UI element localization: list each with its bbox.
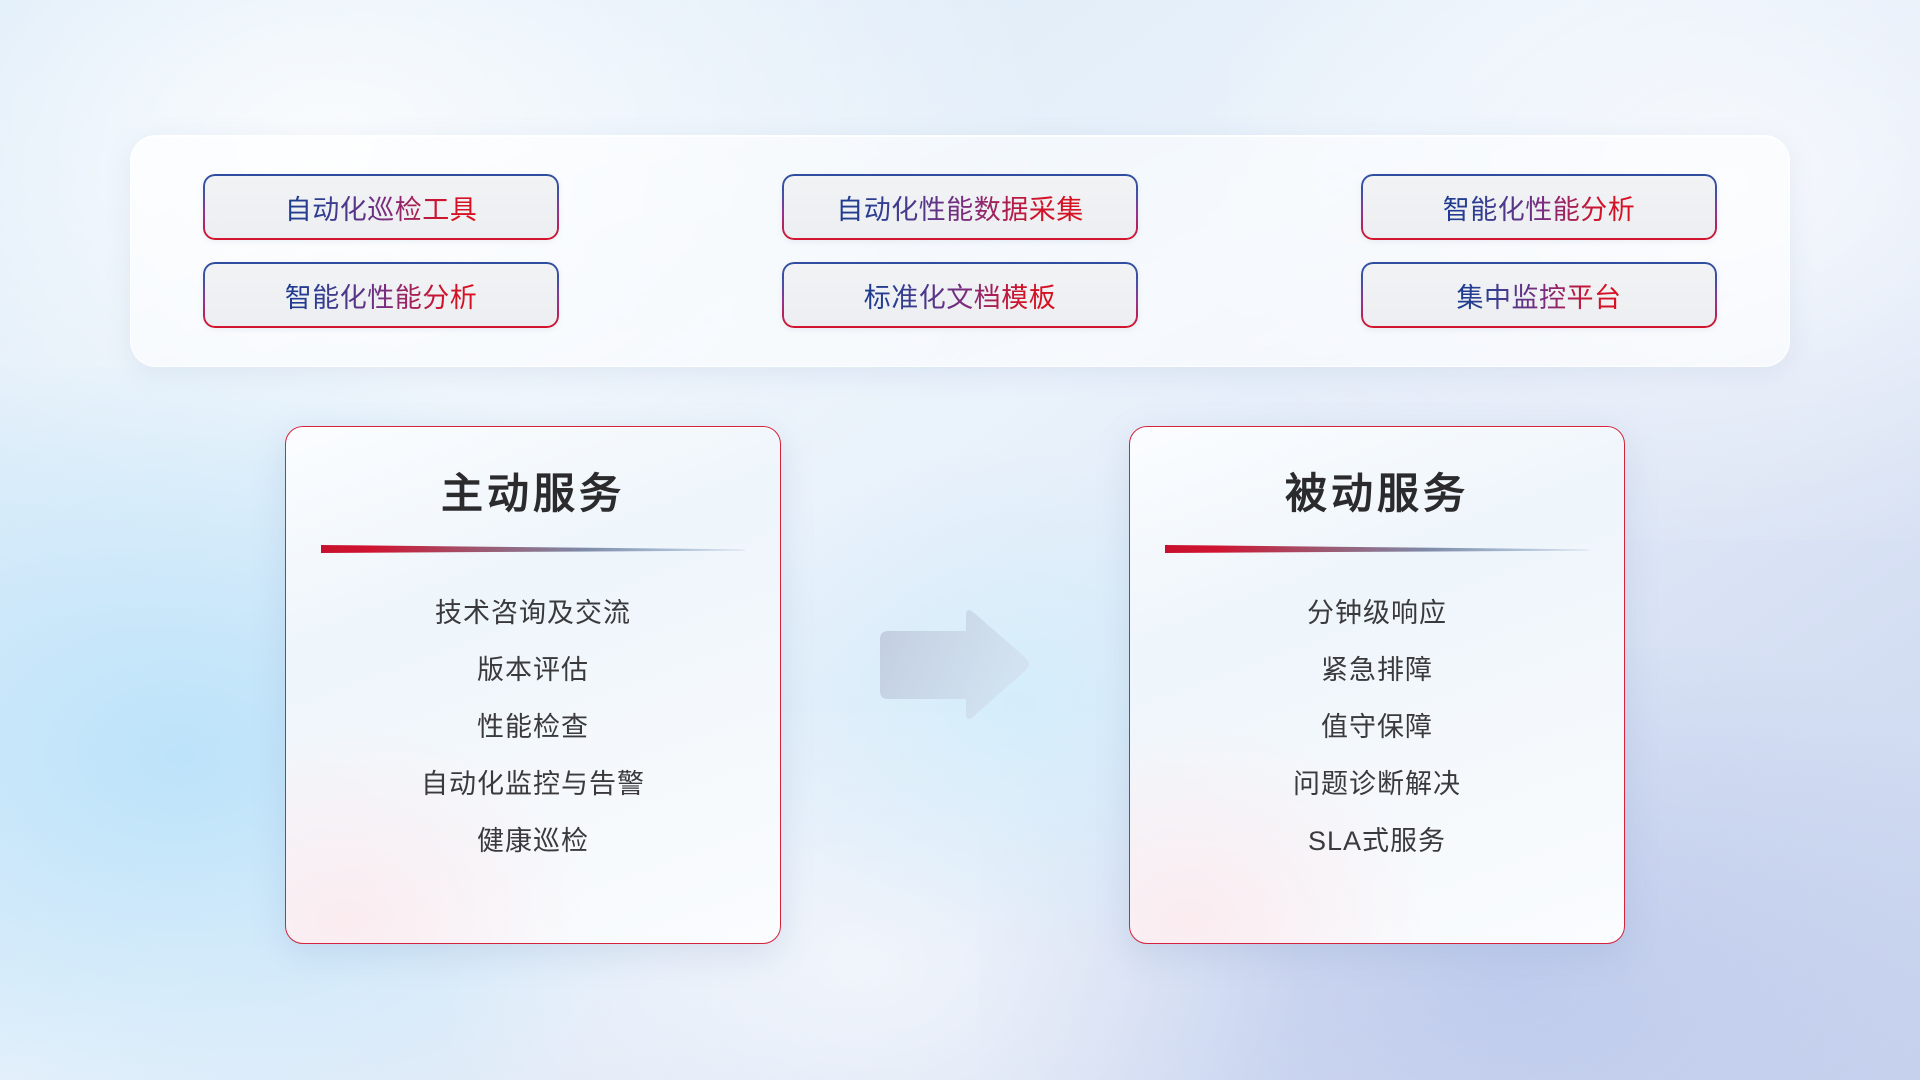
capability-panel: 自动化巡检工具 自动化性能数据采集 智能化性能分析 智能化性能分析 标准化文档模… bbox=[130, 135, 1790, 367]
capability-pill-automated-performance-data-collection[interactable]: 自动化性能数据采集 bbox=[782, 174, 1138, 240]
capability-row-2: 智能化性能分析 标准化文档模板 集中监控平台 bbox=[203, 262, 1717, 328]
service-list-passive: 分钟级响应 紧急排障 值守保障 问题诊断解决 SLA式服务 bbox=[1156, 585, 1598, 870]
service-list-active: 技术咨询及交流 版本评估 性能检查 自动化监控与告警 健康巡检 bbox=[312, 585, 754, 870]
flow-arrow-right-icon bbox=[874, 607, 1032, 725]
service-item: 问题诊断解决 bbox=[1156, 756, 1598, 813]
service-card-active: 主动服务 技术咨询及交流 版本评估 性能检查 自动化监控与告警 健康巡检 bbox=[285, 426, 781, 944]
service-item: 技术咨询及交流 bbox=[312, 585, 754, 642]
capability-pill-label: 智能化性能分析 bbox=[1443, 188, 1636, 227]
card-divider-passive bbox=[1165, 543, 1589, 555]
capability-pill-intelligent-performance-analysis-2[interactable]: 智能化性能分析 bbox=[203, 262, 559, 328]
service-item: 自动化监控与告警 bbox=[312, 756, 754, 813]
service-item: 分钟级响应 bbox=[1156, 585, 1598, 642]
card-title-active: 主动服务 bbox=[312, 469, 754, 519]
card-title-passive: 被动服务 bbox=[1156, 469, 1598, 519]
capability-pill-label: 自动化巡检工具 bbox=[285, 188, 478, 227]
service-item: 值守保障 bbox=[1156, 699, 1598, 756]
capability-pill-label: 集中监控平台 bbox=[1457, 276, 1622, 315]
service-item: 紧急排障 bbox=[1156, 642, 1598, 699]
capability-pill-automated-inspection-tool[interactable]: 自动化巡检工具 bbox=[203, 174, 559, 240]
capability-pill-standard-document-template[interactable]: 标准化文档模板 bbox=[782, 262, 1138, 328]
card-divider-active bbox=[321, 543, 745, 555]
capability-pill-label: 标准化文档模板 bbox=[864, 276, 1057, 315]
service-item: SLA式服务 bbox=[1156, 813, 1598, 870]
service-item: 性能检查 bbox=[312, 699, 754, 756]
capability-pill-label: 智能化性能分析 bbox=[285, 276, 478, 315]
capability-pill-centralized-monitoring-platform[interactable]: 集中监控平台 bbox=[1361, 262, 1717, 328]
capability-pill-label: 自动化性能数据采集 bbox=[836, 188, 1084, 227]
service-item: 健康巡检 bbox=[312, 813, 754, 870]
service-card-passive: 被动服务 分钟级响应 紧急排障 值守保障 问题诊断解决 SLA式服务 bbox=[1129, 426, 1625, 944]
service-item: 版本评估 bbox=[312, 642, 754, 699]
capability-pill-intelligent-performance-analysis[interactable]: 智能化性能分析 bbox=[1361, 174, 1717, 240]
capability-row-1: 自动化巡检工具 自动化性能数据采集 智能化性能分析 bbox=[203, 174, 1717, 240]
